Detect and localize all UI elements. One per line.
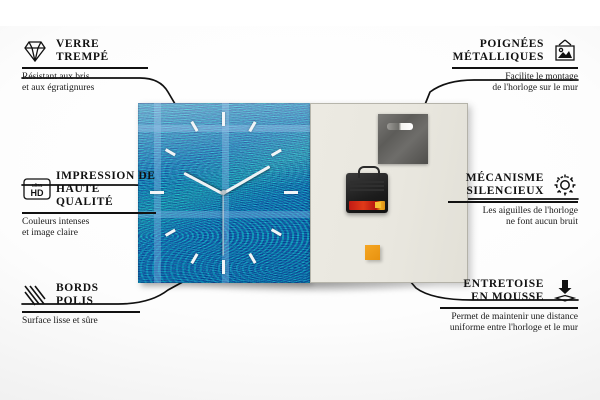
callout-rule <box>22 67 148 69</box>
callout-title-line2: POLIS <box>56 295 99 308</box>
foam-spacer-icon <box>552 278 578 304</box>
clock-front-panel <box>138 103 310 283</box>
tick-12 <box>222 112 225 126</box>
callout-title-line2: TREMPÉ <box>56 51 109 64</box>
tick-6 <box>222 260 225 274</box>
callout-desc-line1: Les aiguilles de l'horloge <box>448 206 578 218</box>
callout-desc-line2: uniforme entre l'horloge et le mur <box>440 323 578 335</box>
callout-verre-trempe: VERRE TREMPÉ Résistant aux bris et aux é… <box>22 38 148 95</box>
hanger-keyhole-slot <box>387 123 413 130</box>
callout-desc-line2: et aux égratignures <box>22 83 148 95</box>
infographic-canvas: VERRE TREMPÉ Résistant aux bris et aux é… <box>0 0 600 400</box>
callout-rule <box>452 67 578 69</box>
second-hand <box>222 194 223 256</box>
polished-edge-icon <box>22 282 48 308</box>
callout-title-line2: HAUTE QUALITÉ <box>56 183 156 209</box>
callout-title-line1: IMPRESSION DE <box>56 170 156 183</box>
callout-poignees-metalliques: POIGNÉES MÉTALLIQUES Facilite le montage… <box>452 38 578 95</box>
callout-entretoise-en-mousse: ENTRETOISE EN MOUSSE Permet de maintenir… <box>440 278 578 335</box>
callout-title-line2: MÉTALLIQUES <box>453 51 544 64</box>
callout-title-line2: SILENCIEUX <box>466 185 544 198</box>
callout-desc-line1: Surface lisse et sûre <box>22 316 140 328</box>
diamond-icon <box>22 38 48 64</box>
callout-title-line1: VERRE <box>56 38 109 51</box>
callout-rule <box>22 311 140 313</box>
hands-cap <box>221 190 226 195</box>
quartz-mechanism <box>346 173 388 213</box>
callout-bords-polis: BORDS POLIS Surface lisse et sûre <box>22 282 140 327</box>
callout-rule <box>440 307 578 309</box>
callout-title-line1: POIGNÉES <box>453 38 544 51</box>
callout-impression-haute-qualite: ultra HD IMPRESSION DE HAUTE QUALITÉ Cou… <box>22 170 156 240</box>
callout-rule <box>22 212 156 214</box>
battery <box>349 201 385 210</box>
ultra-hd-icon: ultra HD <box>22 177 48 203</box>
foam-spacer <box>365 245 380 260</box>
callout-title-line2: EN MOUSSE <box>463 291 544 304</box>
metal-hanger-plate <box>378 114 428 164</box>
callout-desc-line1: Couleurs intenses <box>22 217 156 229</box>
callout-rule <box>448 201 578 203</box>
callout-desc-line2: ne font aucun bruit <box>448 217 578 229</box>
mechanism-hanging-loop <box>358 166 380 178</box>
picture-hook-icon <box>552 38 578 64</box>
gear-icon <box>552 172 578 198</box>
callout-desc-line1: Facilite le montage <box>452 72 578 84</box>
callout-title-line1: ENTRETOISE <box>463 278 544 291</box>
callout-desc-line1: Résistant aux bris <box>22 72 148 84</box>
product-photo <box>138 103 468 285</box>
callout-mecanisme-silencieux: MÉCANISME SILENCIEUX Les aiguilles de l'… <box>448 172 578 229</box>
tick-3 <box>284 191 298 194</box>
callout-desc-line1: Permet de maintenir une distance <box>440 312 578 324</box>
callout-desc-line2: de l'horloge sur le mur <box>452 83 578 95</box>
callout-title-line1: BORDS <box>56 282 99 295</box>
svg-text:HD: HD <box>31 188 44 198</box>
clock-back-panel <box>310 103 468 283</box>
callout-title-line1: MÉCANISME <box>466 172 544 185</box>
callout-desc-line2: et image claire <box>22 228 156 240</box>
